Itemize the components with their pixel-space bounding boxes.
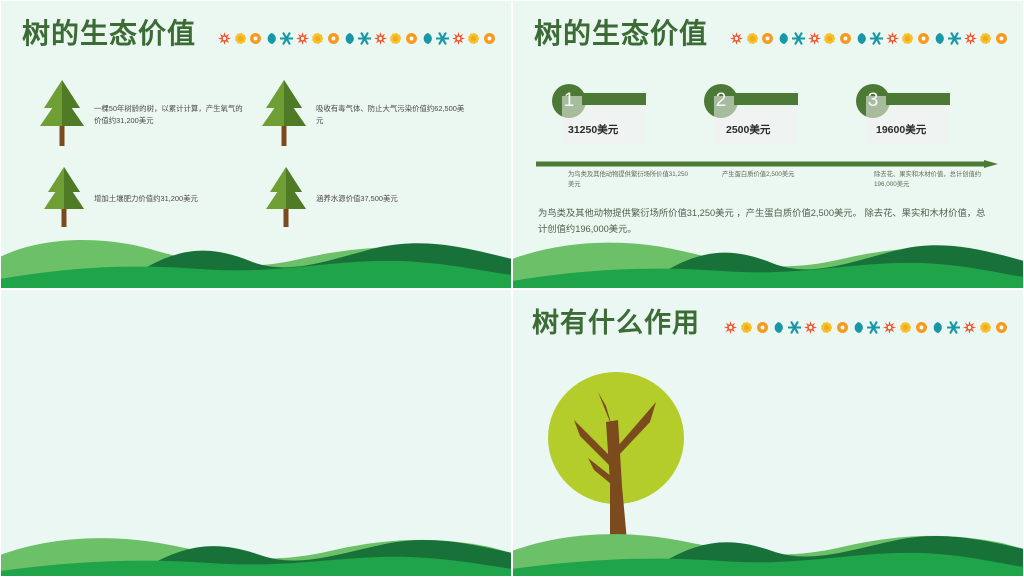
leaf-blob-icon <box>421 32 434 45</box>
pine-tree-icon <box>36 78 88 151</box>
flower-star-icon <box>296 32 309 45</box>
slide-eco-value-timeline: 树的生态价值 1 31250美元 2 2500美元 3 19600美元 <box>512 0 1024 289</box>
flower-star-icon <box>452 32 465 45</box>
leaf-blob-icon <box>265 32 278 45</box>
hills-decoration <box>512 229 1024 289</box>
leaf-blob-icon <box>343 32 356 45</box>
eco-item-3-text: 增加土壤肥力价值约31,200美元 <box>94 193 198 204</box>
hills-decoration <box>0 517 512 577</box>
step-caption-2: 产生蛋白质价值2,500美元 <box>722 170 842 180</box>
pine-tree-icon <box>258 78 310 151</box>
flower-daisy-icon <box>311 32 324 45</box>
step-caption-3: 除去花、果实和木材价值，总计创值约196,000美元 <box>874 170 986 190</box>
pine-tree-icon <box>262 165 310 232</box>
step-amount: 2500美元 <box>726 122 770 137</box>
flower-dot-icon <box>327 32 340 45</box>
leaf-blob-icon <box>852 321 865 334</box>
leaf-blob-icon <box>931 321 944 334</box>
slide-grid: 树的生态价值 一棵50年树龄的树，以累计计算，产生氧气的价值约31,200美元 <box>0 0 1024 577</box>
eco-item-2: 吸收有毒气体、防止大气污染价值约62,500美元 <box>258 78 466 151</box>
flower-daisy-icon <box>820 321 833 334</box>
flower-star-icon <box>883 321 896 334</box>
page-title: 树有什么作用 <box>532 301 700 340</box>
eco-item-2-text: 吸收有毒气体、防止大气污染价值约62,500美元 <box>316 103 466 126</box>
snowflake-icon <box>280 32 293 45</box>
slide-eco-value-trees: 树的生态价值 一棵50年树龄的树，以累计计算，产生氧气的价值约31,200美元 <box>0 0 512 289</box>
snowflake-icon <box>867 321 880 334</box>
timeline-step-1: 1 31250美元 <box>552 84 586 118</box>
hills-decoration <box>0 229 512 289</box>
flower-dot-icon <box>405 32 418 45</box>
flower-daisy-icon <box>389 32 402 45</box>
flower-star-icon <box>724 321 737 334</box>
flower-star-icon <box>804 321 817 334</box>
eco-item-4-text: 涵养水源价值37,500美元 <box>316 193 398 204</box>
flower-daisy-icon <box>899 321 912 334</box>
timeline-arrow-icon <box>536 155 998 163</box>
slide-question: 如果我们的树木遭到破坏，我们失去了树林、森林，会有什么后果? <box>0 289 512 577</box>
pine-tree-icon <box>40 165 88 232</box>
flower-daisy-icon <box>467 32 480 45</box>
flower-strip <box>218 28 496 48</box>
leaf-blob-icon <box>772 321 785 334</box>
snowflake-icon <box>788 321 801 334</box>
eco-item-3: 增加土壤肥力价值约31,200美元 <box>40 165 198 232</box>
step-caption-1: 为鸟类及其他动物提供繁衍场所价值31,250美元 <box>568 170 688 190</box>
flower-dot-icon <box>915 321 928 334</box>
eco-item-1-text: 一棵50年树龄的树，以累计计算，产生氧气的价值约31,200美元 <box>94 103 244 126</box>
timeline-step-3: 3 19600美元 <box>856 84 890 118</box>
flower-daisy-icon <box>979 321 992 334</box>
eco-item-1: 一棵50年树龄的树，以累计计算，产生氧气的价值约31,200美元 <box>36 78 244 151</box>
slide-tree-function: 树有什么作用 龙卷风 龙卷风是在极不稳定天气下由空气强烈对流运动而产生的一种伴随… <box>512 289 1024 577</box>
step-amount: 19600美元 <box>876 122 926 137</box>
flower-dot-icon <box>836 321 849 334</box>
snowflake-icon <box>947 321 960 334</box>
flower-dot-icon <box>483 32 496 45</box>
timeline-step-2: 2 2500美元 <box>704 84 738 118</box>
flower-dot-icon <box>249 32 262 45</box>
flower-daisy-icon <box>234 32 247 45</box>
eco-item-4: 涵养水源价值37,500美元 <box>262 165 398 232</box>
snowflake-icon <box>436 32 449 45</box>
step-bar <box>734 93 798 105</box>
flower-strip <box>724 317 1008 337</box>
flower-star-icon <box>374 32 387 45</box>
page-title: 树的生态价值 <box>22 12 196 52</box>
snowflake-icon <box>358 32 371 45</box>
flower-dot-icon <box>756 321 769 334</box>
flower-daisy-icon <box>740 321 753 334</box>
hills-decoration <box>512 517 1024 577</box>
step-bar <box>582 93 646 105</box>
flower-dot-icon <box>995 321 1008 334</box>
flower-star-icon <box>218 32 231 45</box>
step-bar <box>886 93 950 105</box>
step-amount: 31250美元 <box>568 122 618 137</box>
flower-star-icon <box>963 321 976 334</box>
